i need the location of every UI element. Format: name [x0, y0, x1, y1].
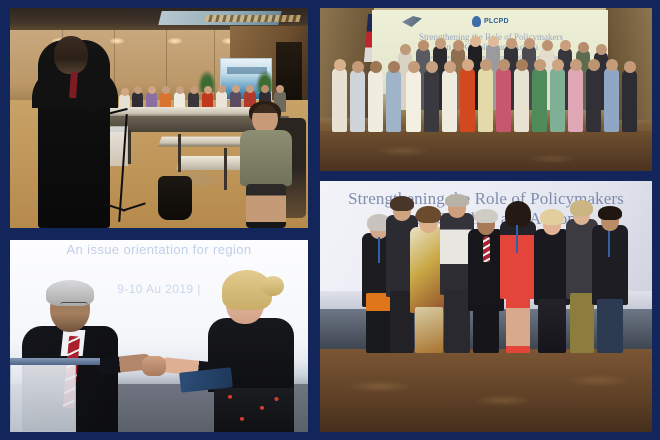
- group-member-head: [552, 59, 564, 71]
- group-member-head: [488, 36, 499, 47]
- group-member: [568, 68, 583, 132]
- hair: [598, 206, 622, 220]
- left-wall: [320, 8, 374, 118]
- group-member: [586, 68, 601, 132]
- striped-necktie: [483, 236, 490, 262]
- group-member-head: [334, 59, 346, 71]
- partner-logo-mark-icon: [402, 16, 422, 27]
- skirt-and-legs: [366, 293, 392, 353]
- torso: [534, 229, 570, 305]
- lectern-top-edge: [10, 358, 100, 365]
- group-member-head: [570, 59, 582, 71]
- group-member-head: [624, 61, 636, 73]
- group-member-head: [524, 38, 535, 49]
- plcpd-logo-mark-icon: [472, 16, 481, 27]
- table-leg: [178, 134, 181, 172]
- large-group-photo: PLCPD Strengthening the Role of Policyma…: [320, 8, 652, 171]
- torso: [592, 225, 628, 305]
- participant-head: [190, 86, 198, 94]
- lanyard: [378, 237, 380, 263]
- legs: [506, 295, 530, 353]
- jeans: [597, 299, 623, 353]
- group-member: [386, 70, 401, 132]
- conference-room-presentation-photo: [10, 8, 308, 228]
- slide-title-line1: Strengthening the Role of Policymakers: [330, 189, 642, 209]
- woman-receiving: [192, 270, 302, 432]
- group-member: [442, 70, 457, 132]
- participant-head: [121, 88, 129, 96]
- group-member-head: [606, 59, 618, 71]
- partner-logo-left: [402, 15, 422, 28]
- long-skirt: [570, 293, 594, 353]
- photo-collage: An issue orientation for region 9-10 Au …: [0, 0, 660, 440]
- group-member-head: [480, 59, 492, 71]
- carpeted-floor: [320, 349, 652, 432]
- participant-head: [176, 86, 184, 94]
- group-member-head: [426, 61, 438, 73]
- foreground-seated-woman: [232, 104, 298, 228]
- group-member-head: [400, 44, 411, 55]
- handshake-photo: An issue orientation for region 9-10 Au …: [10, 240, 308, 432]
- blonde-hair: [540, 209, 564, 225]
- lanyard: [516, 225, 518, 253]
- group-member-head: [462, 59, 474, 71]
- speaker-head: [54, 36, 88, 74]
- group-member-head: [388, 61, 400, 73]
- group-member-head: [578, 42, 589, 53]
- legs: [444, 289, 470, 353]
- patterned-skirt: [214, 388, 294, 432]
- ceiling-grid: [204, 15, 301, 22]
- participant-head: [276, 85, 284, 93]
- participant-head: [162, 86, 170, 94]
- hair: [416, 206, 441, 223]
- acrylic-lectern: [10, 362, 76, 432]
- grey-hair: [474, 209, 498, 223]
- eyeglasses: [60, 302, 88, 308]
- legs: [473, 305, 499, 353]
- group-member-head: [516, 59, 528, 71]
- red-dress: [500, 221, 536, 299]
- participant-head: [218, 85, 226, 93]
- patterned-skirt: [538, 299, 566, 353]
- group-member-head: [588, 59, 600, 71]
- participant-head: [134, 86, 142, 94]
- group-member: [460, 68, 475, 132]
- group-member-head: [444, 61, 456, 73]
- speakers-group-photo: Strengthening the Role of Policymakers i…: [320, 181, 652, 432]
- group-member-head: [435, 38, 446, 49]
- group-member-head: [506, 38, 517, 49]
- group-member-head: [418, 40, 429, 51]
- plcpd-logo: PLCPD: [472, 15, 509, 28]
- group-member-head: [596, 44, 607, 55]
- participant-head: [148, 86, 156, 94]
- group-member: [478, 68, 493, 132]
- group-member-head: [408, 61, 420, 73]
- participant-head: [204, 86, 212, 94]
- ceiling-downlight: [110, 38, 124, 44]
- hair: [445, 194, 469, 207]
- group-member-head: [370, 61, 382, 73]
- group-member-head: [542, 40, 553, 51]
- legs: [246, 184, 286, 228]
- group-member: [622, 70, 637, 132]
- participant-head: [261, 85, 269, 93]
- group-member: [514, 68, 529, 132]
- handshake: [142, 356, 166, 376]
- group-member: [532, 68, 547, 132]
- microphone: [88, 107, 97, 113]
- group-member: [550, 68, 565, 132]
- ceiling-downlight: [168, 38, 182, 44]
- group-member-head: [560, 40, 571, 51]
- group-member-head: [498, 59, 510, 71]
- participant-head: [232, 85, 240, 93]
- group-member: [496, 68, 511, 132]
- group-member: [604, 68, 619, 132]
- group-member: [406, 70, 421, 132]
- hair-bun: [262, 276, 284, 296]
- hall-floor: [320, 131, 652, 171]
- group-member: [350, 70, 365, 132]
- torso: [240, 130, 292, 186]
- faint-slide-subtitle: An issue orientation for region: [10, 242, 308, 257]
- group-member: [424, 70, 439, 132]
- lanyard: [608, 231, 610, 257]
- group-member-head: [453, 40, 464, 51]
- wall-seam: [214, 30, 215, 106]
- group-member-head: [470, 36, 481, 47]
- camera-bag: [158, 176, 192, 220]
- group-member-head: [352, 61, 364, 73]
- dark-hair: [505, 201, 531, 227]
- hair: [570, 200, 593, 216]
- table-leg: [128, 130, 131, 164]
- group-member-head: [534, 59, 546, 71]
- group-member: [332, 68, 347, 132]
- participant-head: [246, 85, 254, 93]
- hair: [390, 196, 414, 211]
- group-member: [368, 70, 383, 132]
- dress-lower: [415, 307, 443, 353]
- plcpd-logo-label: PLCPD: [484, 18, 509, 25]
- table-leg: [224, 148, 227, 190]
